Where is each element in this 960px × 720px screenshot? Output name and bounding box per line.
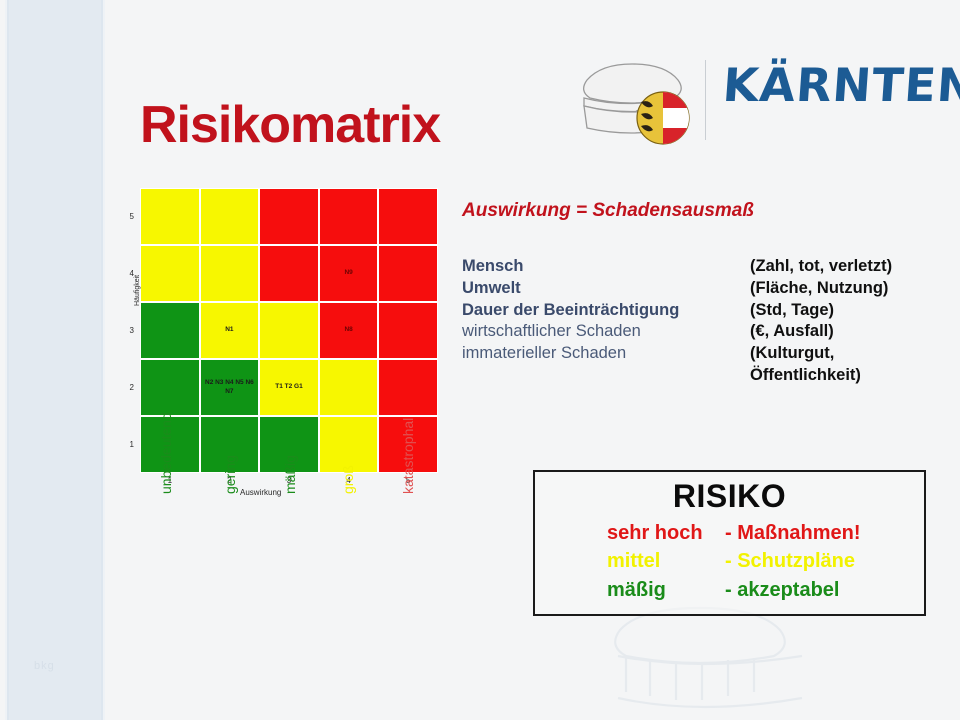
impact-term: Dauer der Beeinträchtigung bbox=[462, 300, 750, 322]
matrix-cell bbox=[319, 188, 379, 245]
matrix-cell bbox=[200, 245, 260, 302]
matrix-category-label: katastrophal bbox=[400, 418, 416, 494]
matrix-cell bbox=[200, 188, 260, 245]
risk-level-label: sehr hoch bbox=[607, 519, 725, 547]
page-title: Risikomatrix bbox=[140, 95, 440, 155]
matrix-cell bbox=[378, 359, 438, 416]
matrix-category-label: mäßig bbox=[282, 455, 298, 494]
impact-term: Umwelt bbox=[462, 278, 750, 300]
matrix-cell-label: N9 bbox=[344, 269, 352, 277]
matrix-cell bbox=[140, 302, 200, 359]
matrix-cell: N2 N3 N4 N5 N6 N7 bbox=[200, 359, 260, 416]
impact-value: (Fläche, Nutzung) bbox=[750, 278, 888, 300]
y-axis-tick: 5 bbox=[120, 212, 134, 221]
matrix-cell bbox=[140, 245, 200, 302]
impact-row: Dauer der Beeinträchtigung(Std, Tage) bbox=[462, 300, 892, 322]
risk-action-label: - Schutzpläne bbox=[725, 547, 855, 575]
matrix-cell: N9 bbox=[319, 245, 379, 302]
matrix-cell bbox=[140, 188, 200, 245]
impact-value: (€, Ausfall) bbox=[750, 321, 834, 343]
risk-legend-rows: sehr hoch- Maßnahmen!mittel- Schutzpläne… bbox=[607, 519, 924, 604]
matrix-cell bbox=[319, 359, 379, 416]
risk-legend-row: mittel- Schutzpläne bbox=[607, 547, 924, 575]
risk-matrix: N9N1N8N2 N3 N4 N5 N6 N7T1 T2 G1 Häufigke… bbox=[140, 188, 438, 473]
matrix-cell bbox=[140, 359, 200, 416]
matrix-category-label: unbedeutend bbox=[158, 412, 174, 494]
impact-value: (Zahl, tot, verletzt) bbox=[750, 256, 892, 278]
impact-term: wirtschaftlicher Schaden bbox=[462, 321, 750, 343]
matrix-cell-label: N8 bbox=[344, 326, 352, 334]
y-axis-tick: 3 bbox=[120, 326, 134, 335]
matrix-cell-label: N1 bbox=[225, 326, 233, 334]
risk-level-label: mäßig bbox=[607, 576, 725, 604]
watermark-text: bkg bbox=[34, 660, 55, 672]
impact-row: wirtschaftlicher Schaden(€, Ausfall) bbox=[462, 321, 892, 343]
matrix-cell bbox=[378, 188, 438, 245]
matrix-cell bbox=[259, 188, 319, 245]
y-axis-tick: 2 bbox=[120, 383, 134, 392]
impact-term: Mensch bbox=[462, 256, 750, 278]
risk-legend-row: mäßig- akzeptabel bbox=[607, 576, 924, 604]
matrix-cell-label: T1 T2 G1 bbox=[275, 383, 302, 391]
logo-divider bbox=[705, 60, 706, 140]
x-axis-title: Auswirkung bbox=[240, 488, 281, 497]
risk-legend-box: RISIKO sehr hoch- Maßnahmen!mittel- Schu… bbox=[533, 470, 926, 616]
impact-value: (Kulturgut, bbox=[750, 343, 834, 365]
impact-row: immaterieller Schaden(Kulturgut, bbox=[462, 343, 892, 365]
matrix-cell: N1 bbox=[200, 302, 260, 359]
y-axis-tick: 1 bbox=[120, 440, 134, 449]
impact-value-continuation: Öffentlichkeit) bbox=[750, 365, 892, 387]
risk-legend-row: sehr hoch- Maßnahmen! bbox=[607, 519, 924, 547]
impact-value: (Std, Tage) bbox=[750, 300, 834, 322]
impact-heading: Auswirkung = Schadensausmaß bbox=[462, 200, 754, 222]
matrix-cell bbox=[259, 245, 319, 302]
matrix-category-label: groß bbox=[340, 465, 356, 494]
strip-edge-left bbox=[7, 0, 9, 720]
y-axis-title: Häufigkeit bbox=[134, 275, 141, 306]
matrix-cell-label: N2 N3 N4 N5 N6 N7 bbox=[204, 379, 256, 395]
matrix-cell bbox=[378, 245, 438, 302]
matrix-cell: N8 bbox=[319, 302, 379, 359]
matrix-cell bbox=[259, 302, 319, 359]
risk-action-label: - akzeptabel bbox=[725, 576, 839, 604]
kaernten-logo: KÄRNTEN bbox=[575, 52, 927, 152]
matrix-category-label: gering bbox=[222, 455, 238, 494]
risk-action-label: - Maßnahmen! bbox=[725, 519, 861, 547]
impact-table: Mensch(Zahl, tot, verletzt)Umwelt(Fläche… bbox=[462, 256, 892, 387]
matrix-plot-area: N9N1N8N2 N3 N4 N5 N6 N7T1 T2 G1 bbox=[140, 188, 438, 473]
impact-term: immaterieller Schaden bbox=[462, 343, 750, 365]
impact-row: Umwelt(Fläche, Nutzung) bbox=[462, 278, 892, 300]
carinthia-coat-of-arms-icon bbox=[637, 92, 689, 144]
risk-level-label: mittel bbox=[607, 547, 725, 575]
matrix-cell bbox=[378, 302, 438, 359]
logo-wordmark: KÄRNTEN bbox=[721, 58, 960, 112]
impact-row: Mensch(Zahl, tot, verletzt) bbox=[462, 256, 892, 278]
risk-legend-title: RISIKO bbox=[535, 478, 924, 515]
strip-edge-right bbox=[101, 0, 103, 720]
left-sidebar-strip bbox=[5, 0, 105, 720]
ducal-hat-icon bbox=[575, 52, 705, 152]
y-axis-tick: 4 bbox=[120, 269, 134, 278]
matrix-cell: T1 T2 G1 bbox=[259, 359, 319, 416]
